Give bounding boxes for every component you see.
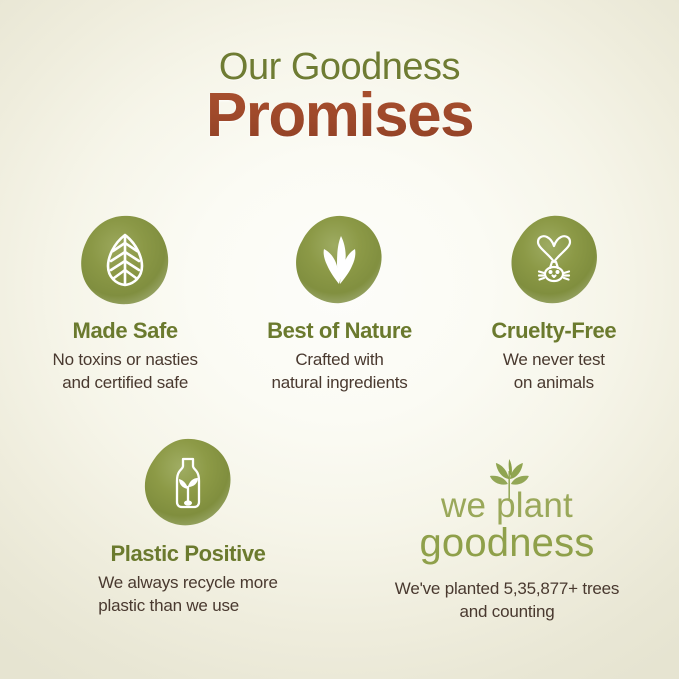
we-plant-goodness-block: we plant goodness We've planted 5,35,877… [362, 437, 652, 623]
promise-icon-badge [293, 214, 385, 306]
trees-planted-line1: We've planted 5,35,877+ trees [395, 579, 619, 598]
promise-title: Made Safe [73, 318, 178, 344]
sprout-leaves-icon [311, 232, 367, 288]
promise-icon-badge [508, 214, 600, 306]
promise-description-line1: We never test [503, 350, 605, 369]
trees-planted-caption: We've planted 5,35,877+ trees and counti… [395, 577, 619, 623]
promise-best-of-nature: Best of Nature Crafted with natural ingr… [232, 214, 446, 394]
promise-title: Best of Nature [267, 318, 412, 344]
we-plant-goodness-logo: we plant goodness [402, 459, 612, 563]
promise-title: Plastic Positive [110, 541, 265, 567]
promise-description: We always recycle more plastic than we u… [98, 571, 278, 617]
promise-cruelty-free: Cruelty-Free We never test on animals [447, 214, 661, 394]
promise-description: We never test on animals [503, 348, 605, 394]
promise-description-line1: No toxins or nasties [53, 350, 198, 369]
promise-description-line1: We always recycle more [98, 573, 278, 592]
promise-description-line2: plastic than we use [98, 596, 239, 615]
promise-icon-badge [79, 214, 171, 306]
promises-row-top: Made Safe No toxins or nasties and certi… [18, 214, 661, 394]
promise-description: Crafted with natural ingredients [271, 348, 407, 394]
promise-title: Cruelty-Free [491, 318, 616, 344]
promise-description-line2: and certified safe [62, 373, 188, 392]
trees-planted-line2: and counting [460, 602, 555, 621]
logo-line-goodness: goodness [402, 523, 612, 563]
promise-description-line2: on animals [514, 373, 594, 392]
promise-description: No toxins or nasties and certified safe [53, 348, 198, 394]
promise-plastic-positive: Plastic Positive We always recycle more … [18, 437, 358, 617]
bottle-plant-icon [160, 455, 216, 511]
bunny-heart-icon [526, 232, 582, 288]
goodness-promises-poster: Our Goodness Promises [0, 0, 679, 679]
promise-made-safe: Made Safe No toxins or nasties and certi… [18, 214, 232, 394]
page-title-line2: Promises [0, 84, 679, 148]
logo-line-we-plant: we plant [402, 489, 612, 522]
promise-description-line2: natural ingredients [271, 373, 407, 392]
page-title: Our Goodness Promises [0, 46, 679, 148]
leaf-icon [97, 232, 153, 288]
promise-icon-badge [142, 437, 234, 529]
promises-row-bottom: Plastic Positive We always recycle more … [0, 437, 679, 623]
promise-description-line1: Crafted with [295, 350, 383, 369]
